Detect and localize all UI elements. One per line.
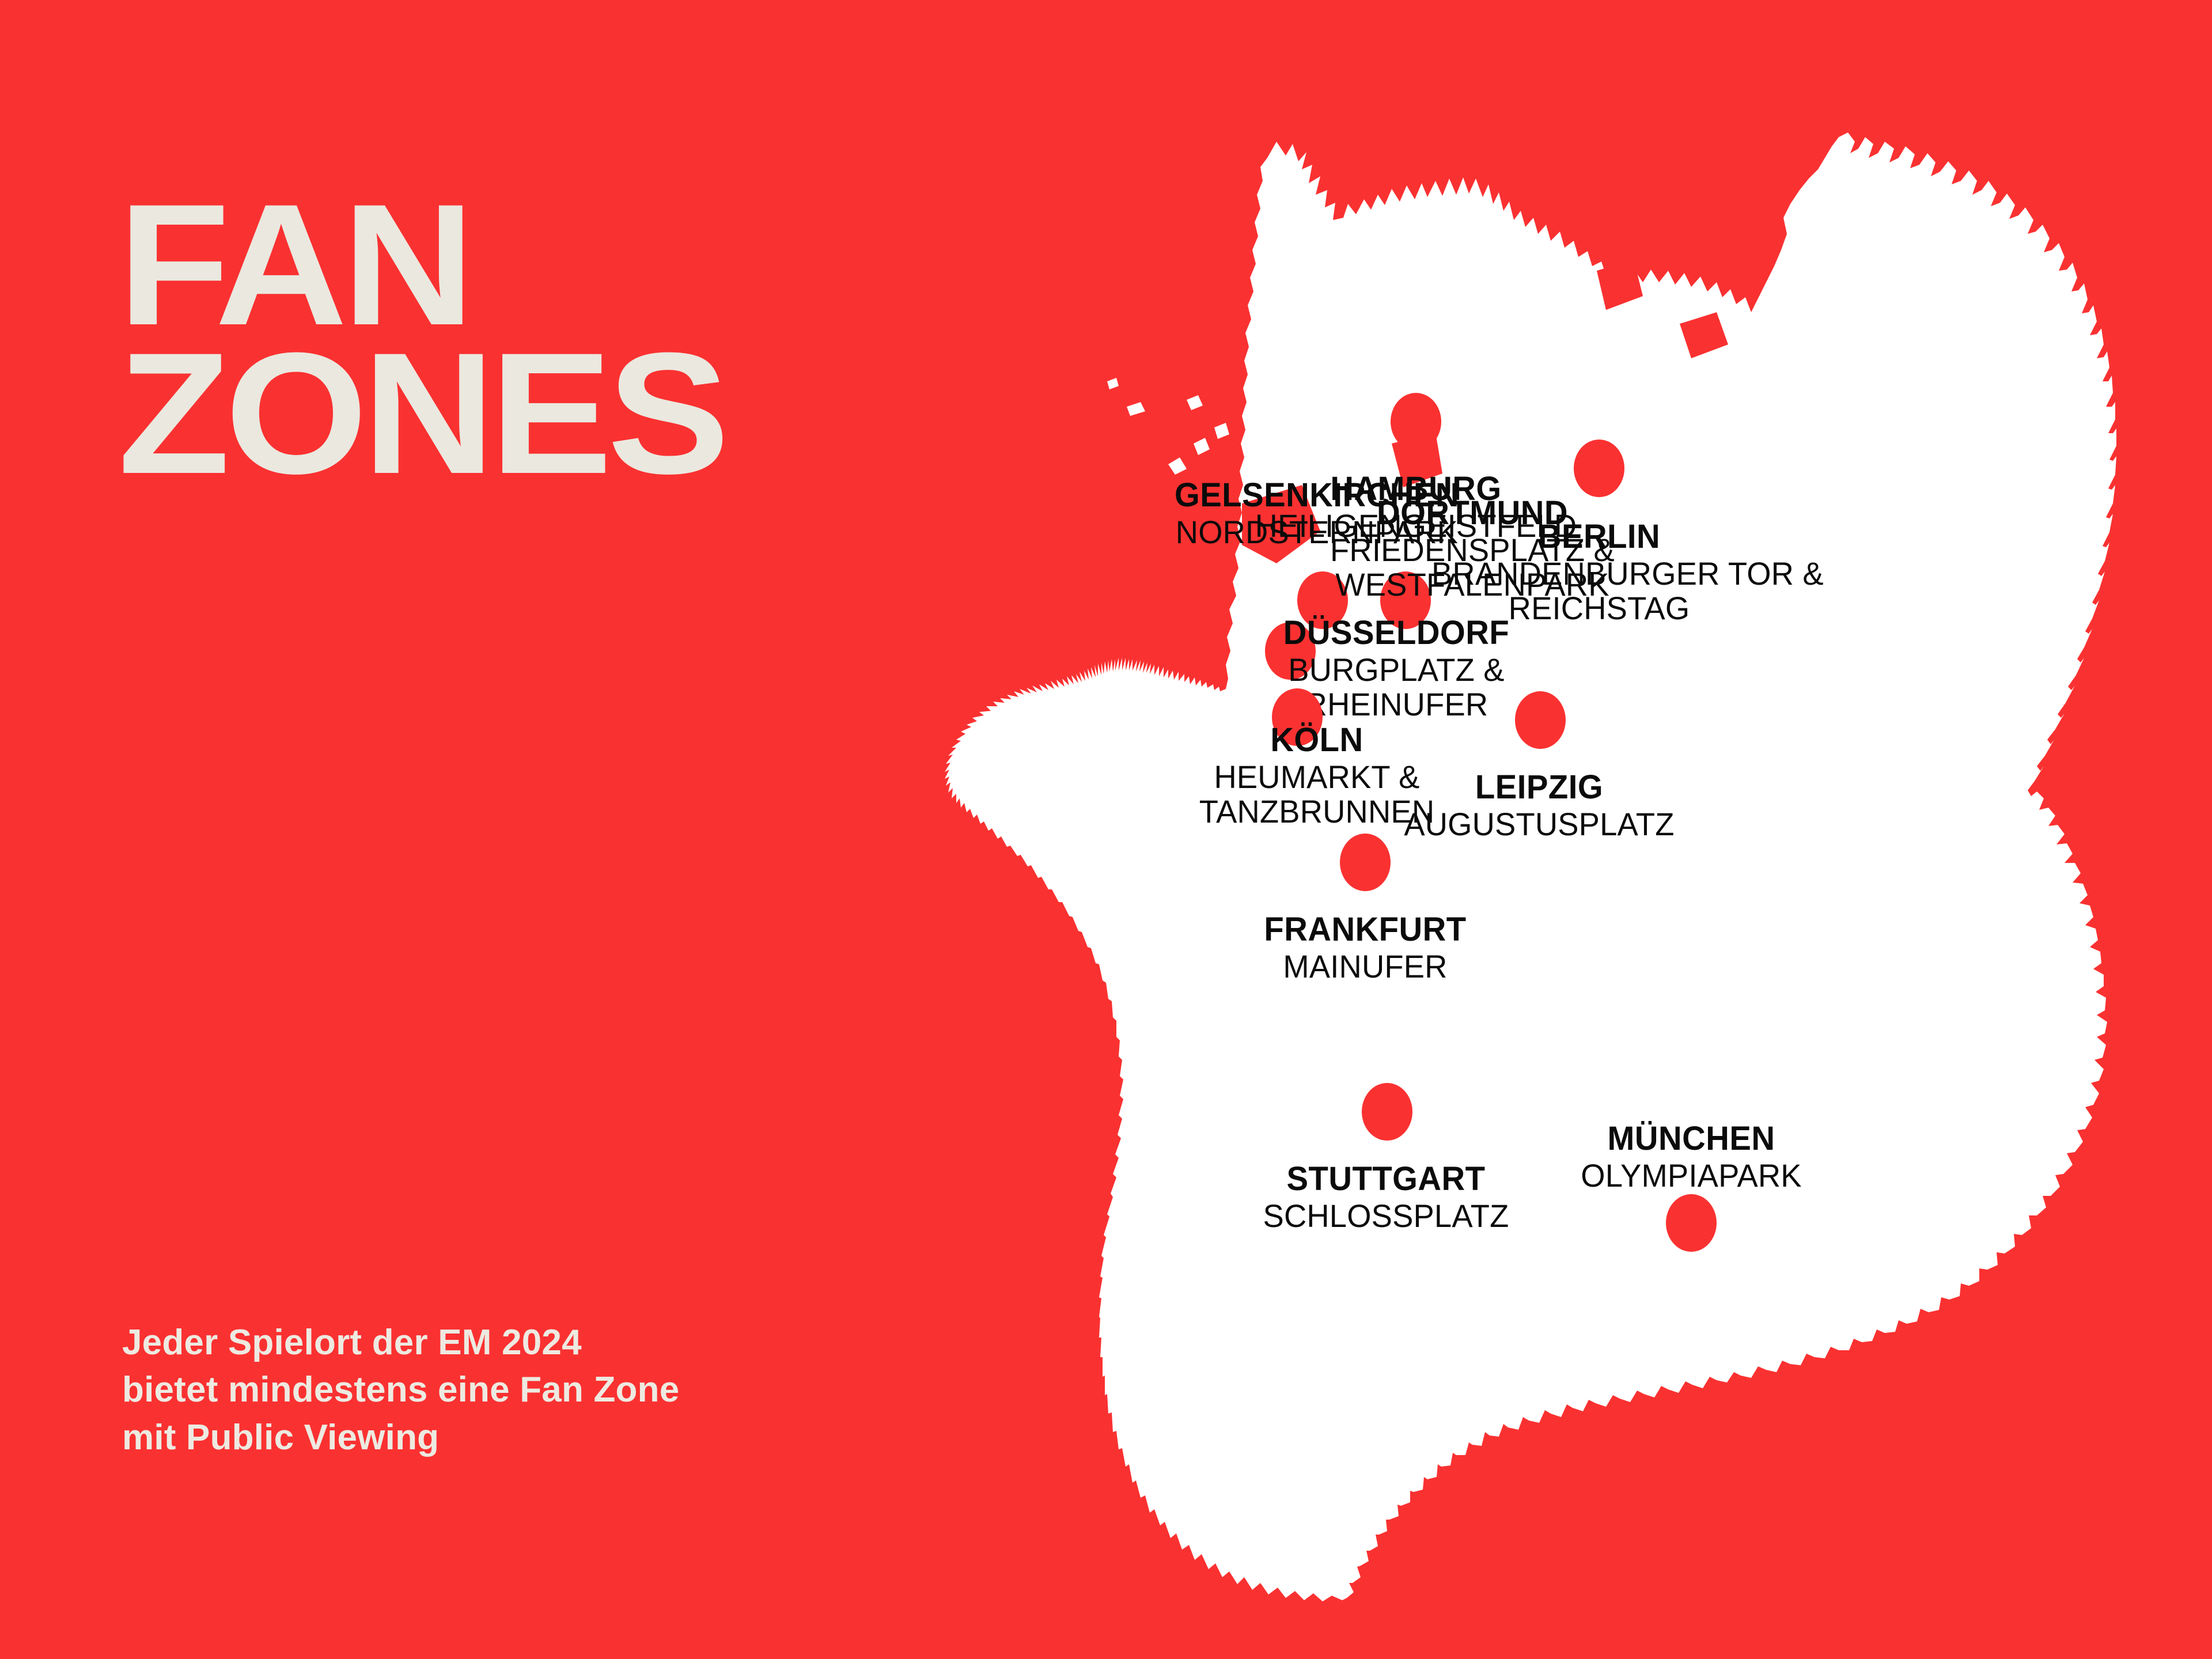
city-venue-leipzig: AUGUSTUSPLATZ [1372, 808, 1707, 840]
city-venue-dortmund-2: WESTFALENPARK [1305, 569, 1640, 601]
city-name-leipzig: LEIPZIG [1372, 771, 1707, 804]
city-label-muenchen: MÜNCHEN OLYMPIAPARK [1518, 1122, 1864, 1192]
germany-silhouette-icon [896, 98, 2181, 1653]
city-label-leipzig: LEIPZIG AUGUSTUSPLATZ [1366, 771, 1712, 840]
city-name-dortmund: DORTMUND [1305, 497, 1640, 530]
city-name-duesseldorf: DÜSSELDORF [1229, 616, 1564, 650]
city-venue-duesseldorf-1: BURGPLATZ & [1229, 654, 1564, 686]
marker-dot-hamburg[interactable] [1391, 393, 1441, 450]
city-venue-frankfurt: MAINUFER [1198, 950, 1533, 983]
caption-text: Jeder Spielort der EM 2024 bietet mindes… [122, 1319, 871, 1461]
marker-dot-leipzig[interactable] [1515, 691, 1566, 749]
marker-dot-frankfurt[interactable] [1340, 834, 1391, 891]
marker-dot-muenchen[interactable] [1666, 1194, 1717, 1252]
page-title: FAN ZONES [118, 190, 896, 487]
city-name-muenchen: MÜNCHEN [1524, 1122, 1859, 1156]
fan-zones-poster: FAN ZONES Jeder Spielort der EM 2024 bie… [0, 0, 2212, 1659]
city-label-frankfurt: FRANKFURT MAINUFER [1192, 913, 1538, 983]
caption-line-1: Jeder Spielort der EM 2024 [122, 1319, 871, 1366]
marker-dot-berlin[interactable] [1574, 440, 1624, 497]
city-name-koeln: KÖLN [1149, 724, 1484, 757]
city-name-stuttgart: STUTTGART [1218, 1162, 1554, 1196]
caption-line-2: bietet mindestens eine Fan Zone [122, 1366, 871, 1414]
marker-dot-stuttgart[interactable] [1362, 1083, 1412, 1141]
caption-line-3: mit Public Viewing [122, 1414, 871, 1461]
title-line-2: ZONES [118, 339, 942, 487]
city-venue-muenchen: OLYMPIAPARK [1524, 1160, 1859, 1192]
city-venue-dortmund-1: FRIEDENSPLATZ & [1305, 534, 1640, 566]
germany-map: HAMBURG HEILIGENGEISTFELD BERLIN BRANDEN… [896, 98, 2181, 1653]
city-venue-stuttgart: SCHLOSSPLATZ [1218, 1200, 1554, 1232]
city-name-frankfurt: FRANKFURT [1198, 913, 1533, 946]
city-label-stuttgart: STUTTGART SCHLOSSPLATZ [1213, 1162, 1559, 1232]
city-label-dortmund: DORTMUND FRIEDENSPLATZ & WESTFALENPARK [1300, 497, 1645, 601]
